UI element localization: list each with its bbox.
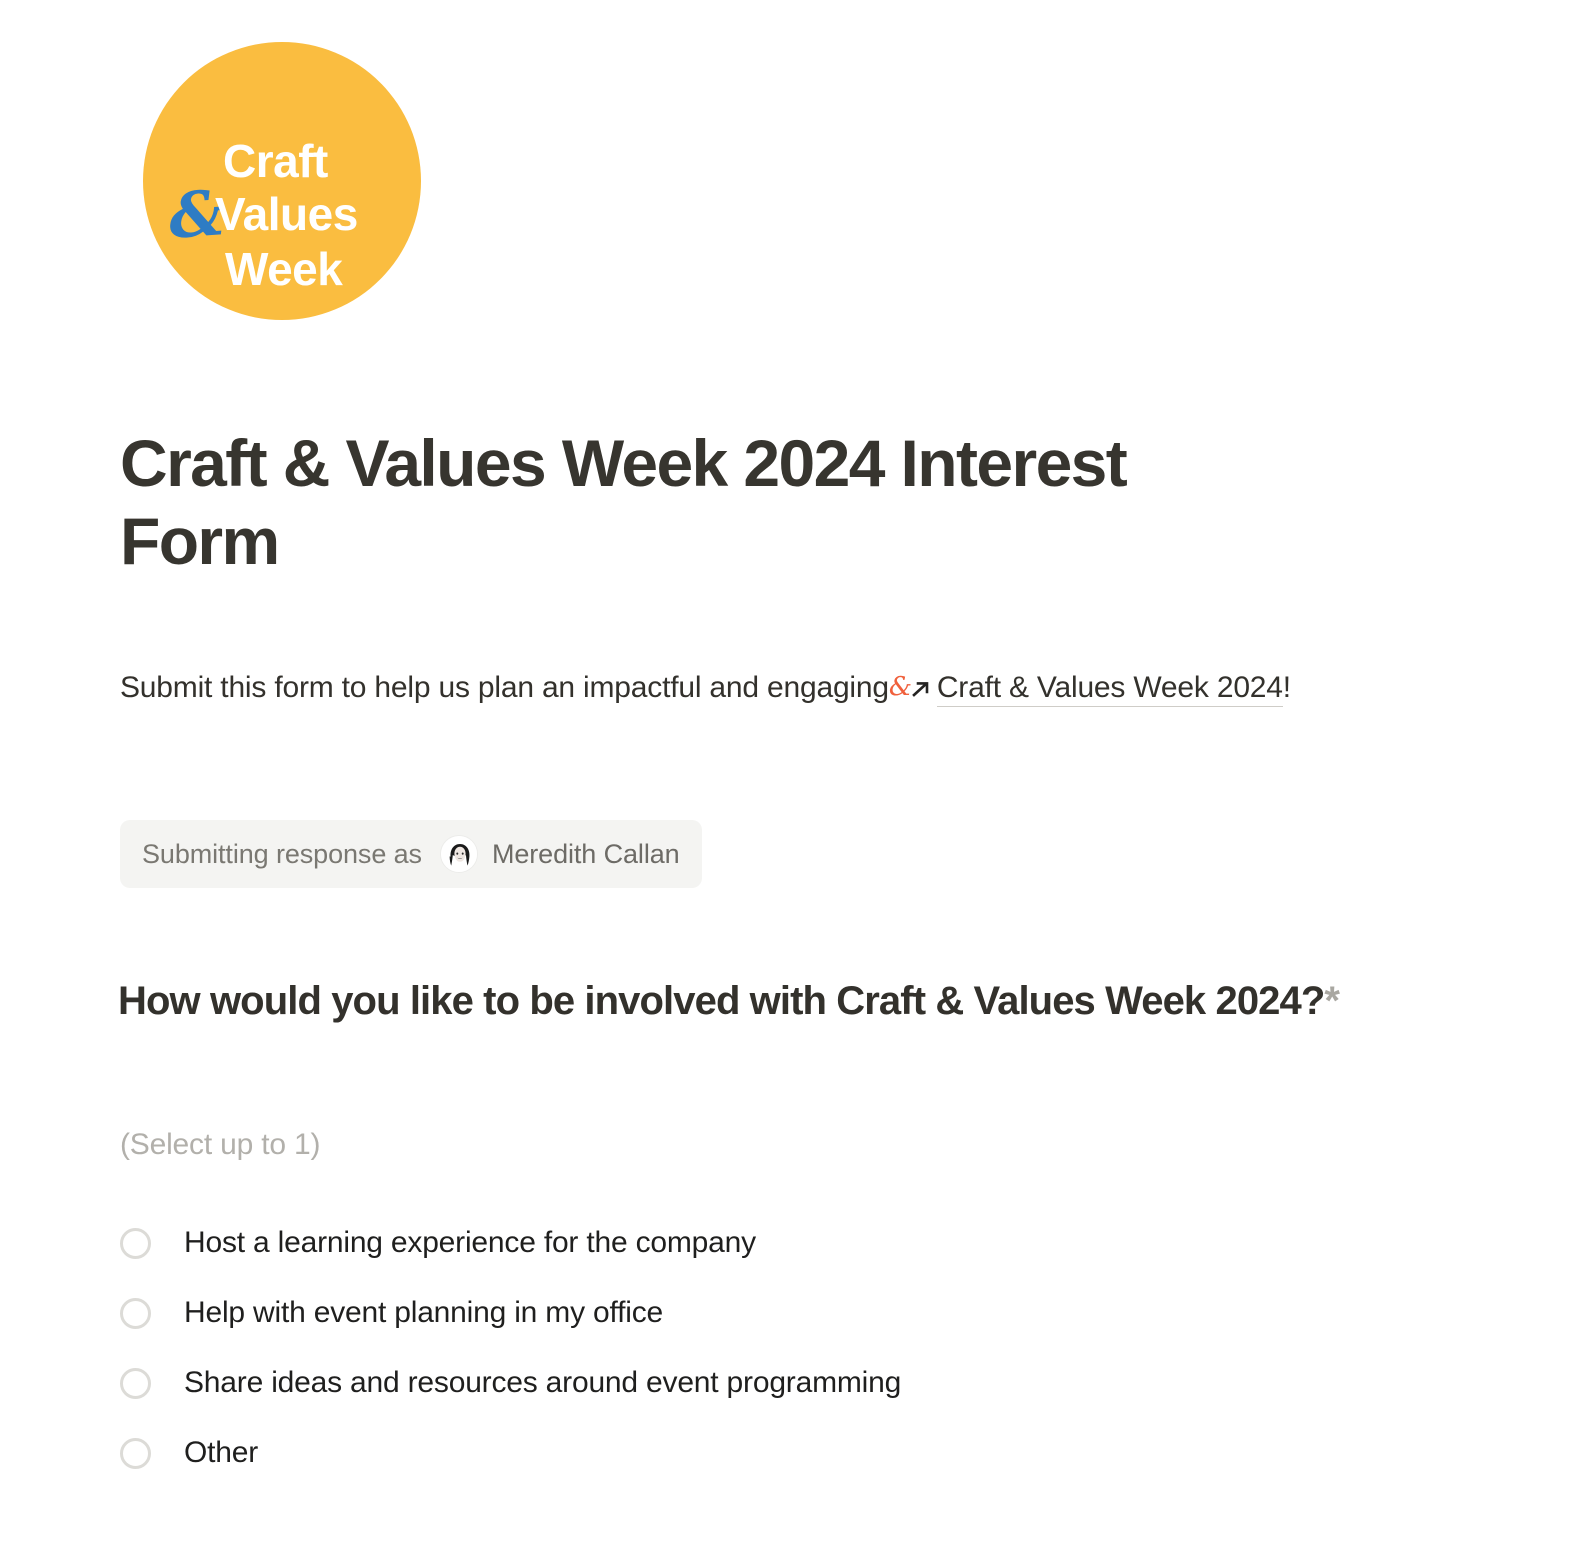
radio-button-icon[interactable]: [120, 1228, 151, 1259]
option-row[interactable]: Host a learning experience for the compa…: [118, 1208, 1418, 1278]
option-label: Host a learning experience for the compa…: [184, 1226, 756, 1260]
logo-circle: Craft & Values Week: [143, 42, 421, 320]
logo-text-block: Craft & Values Week: [143, 42, 421, 320]
question-title: How would you like to be involved with C…: [118, 975, 1438, 1028]
form-page: Craft & Values Week Craft & Values Week …: [0, 0, 1586, 1548]
logo-line-week: Week: [225, 246, 342, 292]
craft-values-week-link[interactable]: Craft & Values Week 2024: [937, 671, 1283, 707]
option-label: Help with event planning in my office: [184, 1296, 663, 1330]
radio-button-icon[interactable]: [120, 1298, 151, 1329]
radio-button-icon[interactable]: [120, 1368, 151, 1399]
submitting-response-as-pill: Submitting response as Meredith Callan: [120, 820, 702, 888]
option-row[interactable]: Share ideas and resources around event p…: [118, 1348, 1418, 1418]
logo-line-craft: Craft: [223, 138, 328, 184]
required-asterisk: *: [1324, 979, 1339, 1023]
submitting-as-user-name: Meredith Callan: [492, 839, 680, 870]
external-link-arrow-icon: [911, 665, 931, 687]
user-avatar-photo: [440, 835, 478, 873]
radio-button-icon[interactable]: [120, 1438, 151, 1469]
select-limit-hint: (Select up to 1): [120, 1128, 320, 1162]
description-text-after: !: [1283, 671, 1291, 704]
submitting-as-label: Submitting response as: [142, 839, 422, 870]
option-row[interactable]: Help with event planning in my office: [118, 1278, 1418, 1348]
logo-line-values: Values: [215, 191, 358, 237]
question-options-list: Host a learning experience for the compa…: [118, 1208, 1418, 1488]
form-description: Submit this form to help us plan an impa…: [120, 662, 1380, 714]
page-title: Craft & Values Week 2024 Interest Form: [120, 425, 1300, 581]
option-row[interactable]: Other: [118, 1418, 1418, 1488]
craft-values-week-logo: Craft & Values Week: [143, 42, 421, 320]
question-text: How would you like to be involved with C…: [118, 979, 1324, 1023]
option-label: Share ideas and resources around event p…: [184, 1366, 901, 1400]
option-label: Other: [184, 1436, 258, 1470]
ampersand-icon: &: [889, 672, 912, 702]
description-text-before: Submit this form to help us plan an impa…: [120, 671, 889, 704]
